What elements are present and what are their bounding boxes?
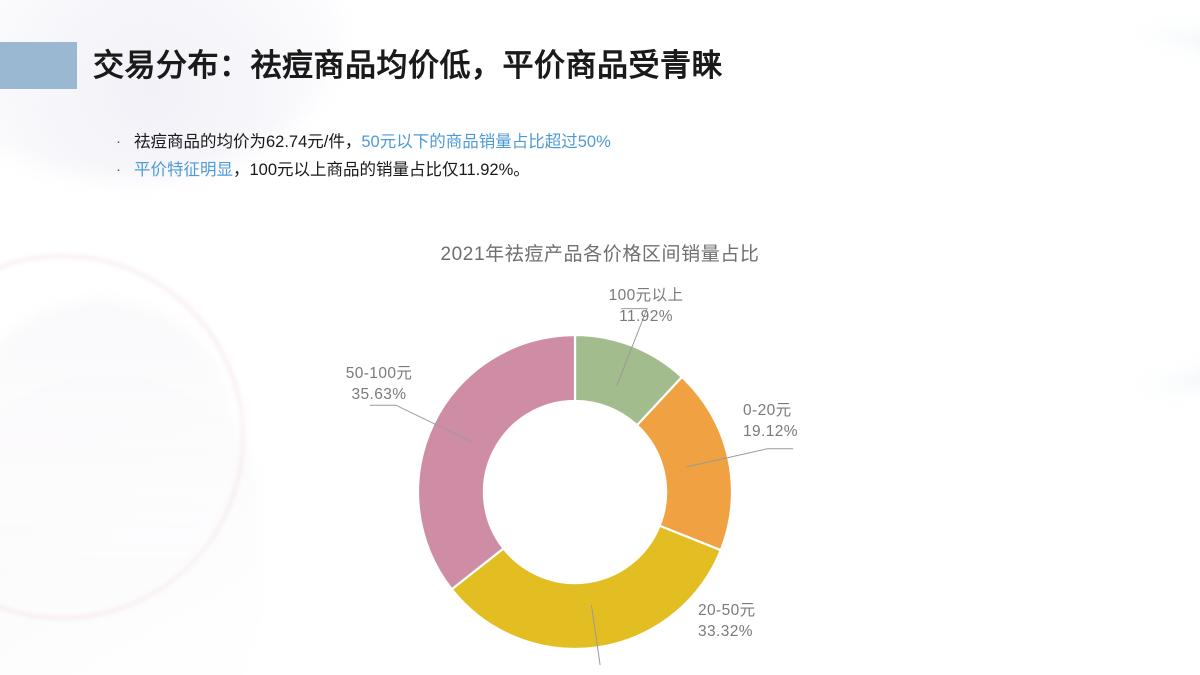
bullet-text: 祛痘商品的均价为62.74元/件，50元以下的商品销量占比超过50% xyxy=(134,128,611,156)
page-title: 交易分布：祛痘商品均价低，平价商品受青睐 xyxy=(93,42,723,89)
slice-label-value: 19.12% xyxy=(743,421,863,442)
bullet-segment: ，100元以上商品的销量占比仅11.92%。 xyxy=(233,161,530,179)
background-wash-left xyxy=(0,300,230,630)
bullet-segment-highlight: 平价特征明显 xyxy=(134,161,233,179)
slice-label-value: 33.32% xyxy=(698,621,818,642)
donut-slice-group xyxy=(418,335,732,649)
donut-chart: 2021年祛痘产品各价格区间销量占比 100元以上 11.92% 0-20元 1… xyxy=(300,225,900,665)
background-blob-pink xyxy=(790,0,1120,130)
bullet-marker-icon: · xyxy=(116,128,134,156)
background-blob-blue-bottom xyxy=(870,545,1170,675)
bullet-segment-highlight: 50元以下的商品销量占比超过50% xyxy=(361,133,610,151)
bullet-marker-icon: · xyxy=(116,156,134,184)
background-blob-blue-top xyxy=(890,0,1200,245)
background-arc-pink xyxy=(0,255,244,619)
slice-label-name: 0-20元 xyxy=(743,400,863,421)
bullet-list: · 祛痘商品的均价为62.74元/件，50元以下的商品销量占比超过50% · 平… xyxy=(116,128,876,184)
slide-canvas: 交易分布：祛痘商品均价低，平价商品受青睐 · 祛痘商品的均价为62.74元/件，… xyxy=(0,0,1200,675)
slice-label-20-50: 20-50元 33.32% xyxy=(698,600,818,642)
bullet-text: 平价特征明显，100元以上商品的销量占比仅11.92%。 xyxy=(134,156,530,184)
slice-label-100plus: 100元以上 11.92% xyxy=(586,285,706,327)
background-blob-blue-right xyxy=(990,30,1200,390)
slice-label-name: 20-50元 xyxy=(698,600,818,621)
slice-label-name: 100元以上 xyxy=(586,285,706,306)
title-accent-block xyxy=(0,42,77,89)
background-blob-vessel xyxy=(0,375,260,675)
slice-label-0-20: 0-20元 19.12% xyxy=(743,400,863,442)
bullet-item: · 祛痘商品的均价为62.74元/件，50元以下的商品销量占比超过50% xyxy=(116,128,876,156)
slice-label-value: 35.63% xyxy=(314,384,444,405)
slice-label-50-100: 50-100元 35.63% xyxy=(314,363,444,405)
slice-label-name: 50-100元 xyxy=(314,363,444,384)
bullet-item: · 平价特征明显，100元以上商品的销量占比仅11.92%。 xyxy=(116,156,876,184)
slice-label-value: 11.92% xyxy=(586,306,706,327)
bullet-segment: 祛痘商品的均价为62.74元/件， xyxy=(134,133,361,151)
